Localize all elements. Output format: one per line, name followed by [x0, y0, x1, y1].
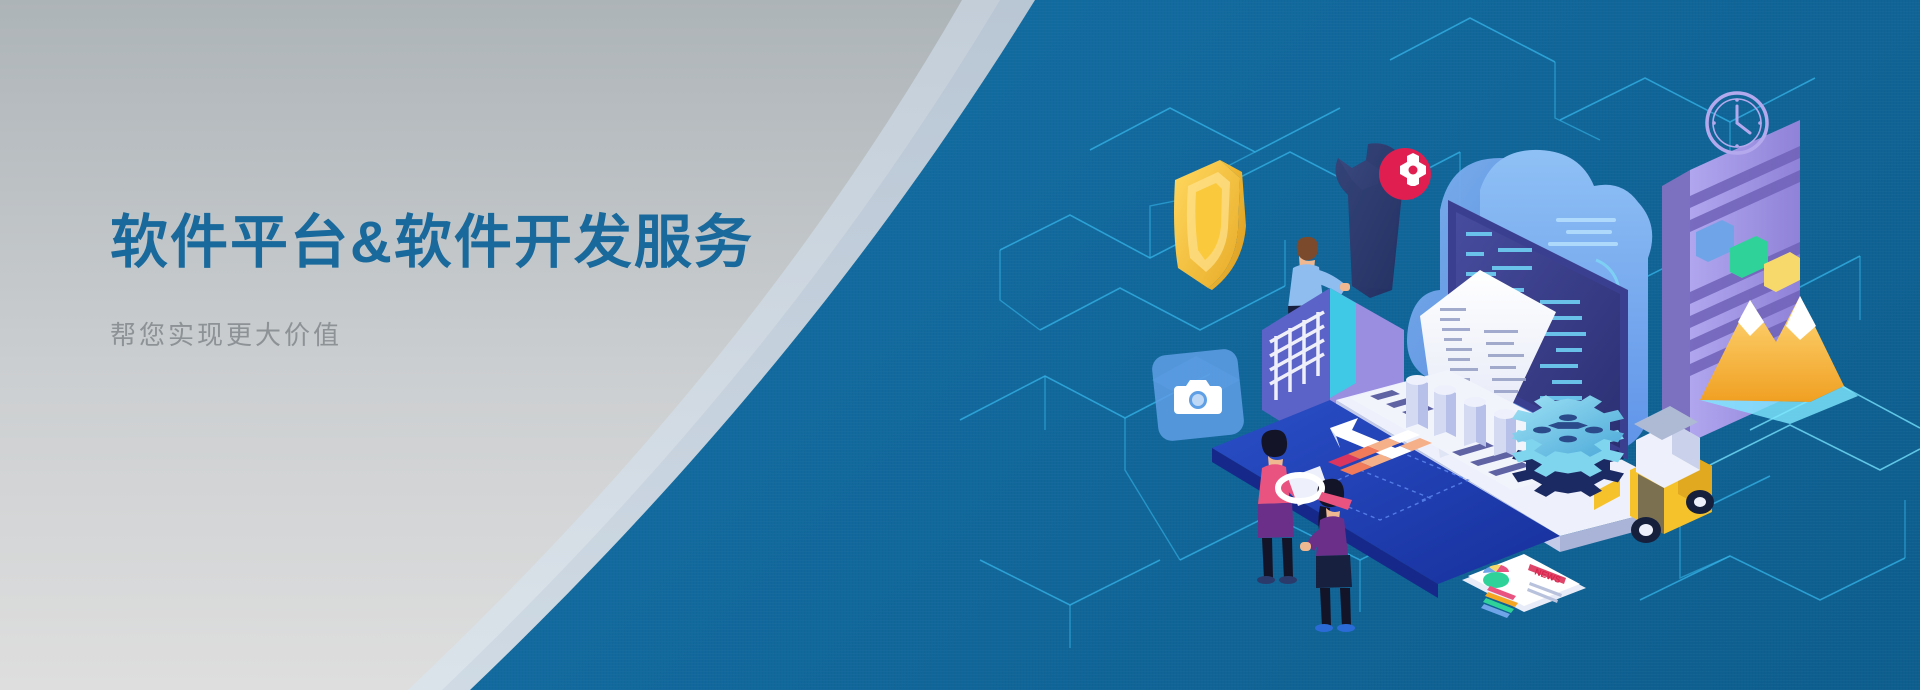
banner-copy: 软件平台&软件开发服务 帮您实现更大价值	[110, 210, 870, 352]
page-title: 软件平台&软件开发服务	[110, 210, 870, 277]
hero-banner: NEWS	[0, 0, 1920, 690]
page-subtitle: 帮您实现更大价值	[110, 315, 870, 352]
